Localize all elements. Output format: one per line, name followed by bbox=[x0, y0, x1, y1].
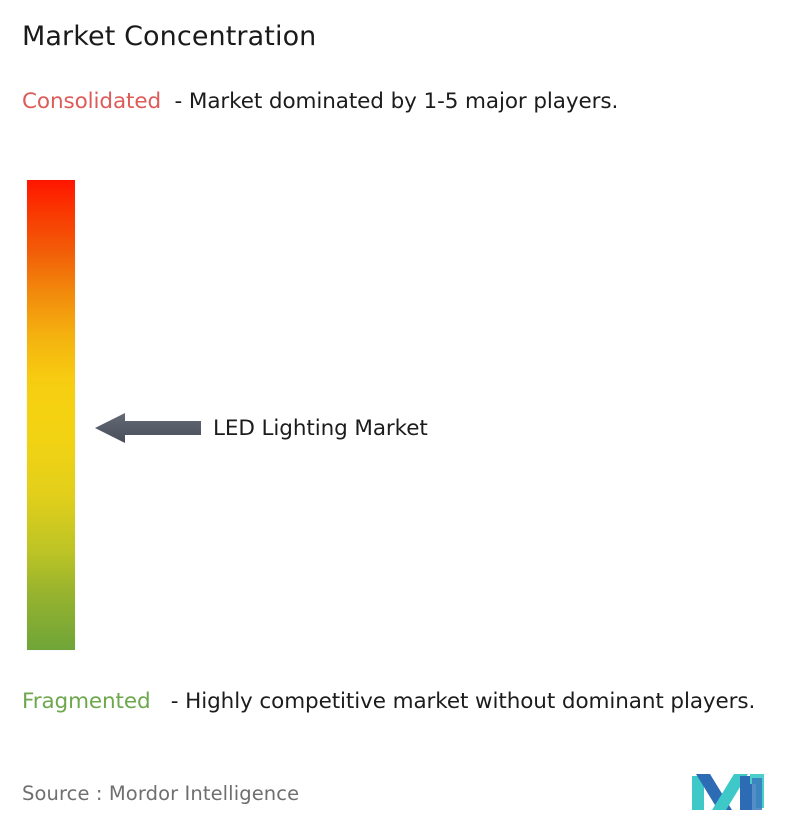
legend-term-fragmented: Fragmented bbox=[22, 689, 151, 714]
legend-term-consolidated: Consolidated bbox=[22, 89, 161, 114]
market-concentration-chart: Market Concentration Consolidated - Mark… bbox=[0, 0, 796, 834]
source-label: Source : bbox=[22, 782, 103, 805]
source-value: Mordor Intelligence bbox=[109, 782, 299, 805]
legend-separator-bottom bbox=[151, 689, 171, 714]
legend-fragmented: Fragmented - Highly competitive market w… bbox=[22, 686, 792, 717]
page-title: Market Concentration bbox=[22, 21, 316, 52]
market-pointer: LED Lighting Market bbox=[95, 411, 428, 445]
legend-consolidated: Consolidated - Market dominated by 1-5 m… bbox=[22, 86, 767, 117]
mordor-intelligence-logo-icon bbox=[692, 770, 768, 816]
market-pointer-label: LED Lighting Market bbox=[213, 416, 428, 441]
legend-separator-top bbox=[161, 89, 174, 114]
legend-description-consolidated: - Market dominated by 1-5 major players. bbox=[175, 89, 619, 114]
source-attribution: Source : Mordor Intelligence bbox=[22, 782, 299, 805]
legend-description-fragmented: - Highly competitive market without domi… bbox=[171, 689, 755, 714]
left-arrow-icon bbox=[95, 411, 201, 445]
concentration-scale-bar bbox=[27, 180, 75, 650]
